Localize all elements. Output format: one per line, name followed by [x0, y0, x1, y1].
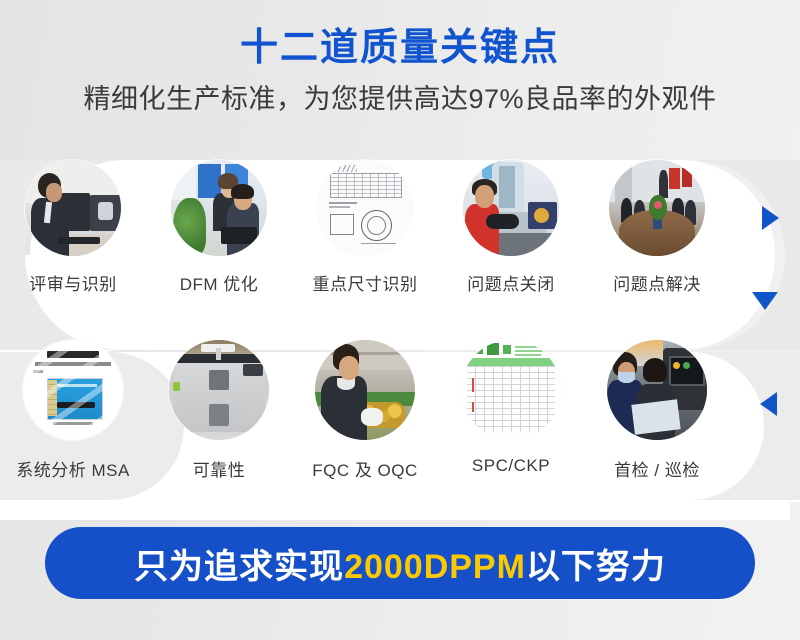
process-node-issue-closed[interactable]: 问题点关闭: [438, 160, 584, 300]
node-label: 问题点解决: [613, 270, 701, 295]
page-subtitle: 精细化生产标准，为您提供高达97%良品率的外观件: [0, 71, 800, 115]
node-image-test-report: [23, 340, 123, 440]
process-node-msa[interactable]: 系统分析 MSA: [0, 340, 146, 490]
arrow-right-icon: [762, 206, 779, 230]
node-label: FQC 及 OQC: [312, 456, 418, 481]
process-row-1: 评审与识别 DFM 优化 重点尺寸识别: [0, 160, 800, 300]
arrow-down-icon: [752, 292, 778, 310]
process-row-2: 系统分析 MSA 可靠性 FQC 及 OQC: [0, 340, 800, 490]
node-image-engineer-at-desk: [25, 160, 121, 256]
banner-text-before: 只为追求实现: [134, 548, 344, 586]
process-node-fqc-oqc[interactable]: FQC 及 OQC: [292, 340, 438, 490]
process-node-first-article[interactable]: 首检 / 巡检: [584, 340, 730, 490]
node-label: 重点尺寸识别: [313, 270, 418, 295]
banner-text-after: 以下努力: [526, 548, 666, 586]
node-label: 系统分析 MSA: [16, 456, 130, 481]
node-image-reliability-chamber: [169, 340, 269, 440]
process-node-dfm[interactable]: DFM 优化: [146, 160, 292, 300]
node-label: 可靠性: [193, 456, 246, 481]
node-image-office-team: [171, 160, 267, 256]
node-image-first-article-inspection: [607, 340, 707, 440]
quality-process-infographic: 十二道质量关键点 精细化生产标准，为您提供高达97%良品率的外观件 评审与识别: [0, 0, 800, 640]
node-image-cmm-measurement: [463, 160, 559, 256]
node-label: DFM 优化: [180, 270, 259, 295]
node-label: 首检 / 巡检: [614, 456, 700, 481]
process-node-spc-ckp[interactable]: SPC/CKP: [438, 340, 584, 490]
node-image-meeting-room: [609, 160, 705, 256]
node-label: SPC/CKP: [472, 456, 550, 476]
process-node-issue-resolved[interactable]: 问题点解决: [584, 160, 730, 300]
node-label: 评审与识别: [29, 270, 117, 295]
process-node-review[interactable]: 评审与识别: [0, 160, 146, 300]
process-node-reliability[interactable]: 可靠性: [146, 340, 292, 490]
node-image-inspector: [315, 340, 415, 440]
bottom-banner[interactable]: 只为追求实现2000DPPM以下努力: [45, 527, 755, 599]
header: 十二道质量关键点 精细化生产标准，为您提供高达97%良品率的外观件: [0, 0, 800, 115]
page-title: 十二道质量关键点: [0, 0, 800, 71]
node-image-technical-drawing: [317, 160, 413, 256]
node-label: 问题点关闭: [467, 270, 555, 295]
node-image-spc-chart: [461, 340, 561, 440]
arrow-left-icon: [760, 392, 777, 416]
banner-highlight: 2000DPPM: [344, 548, 526, 586]
process-node-key-dimension[interactable]: 重点尺寸识别: [292, 160, 438, 300]
banner-text: 只为追求实现2000DPPM以下努力: [134, 539, 666, 588]
